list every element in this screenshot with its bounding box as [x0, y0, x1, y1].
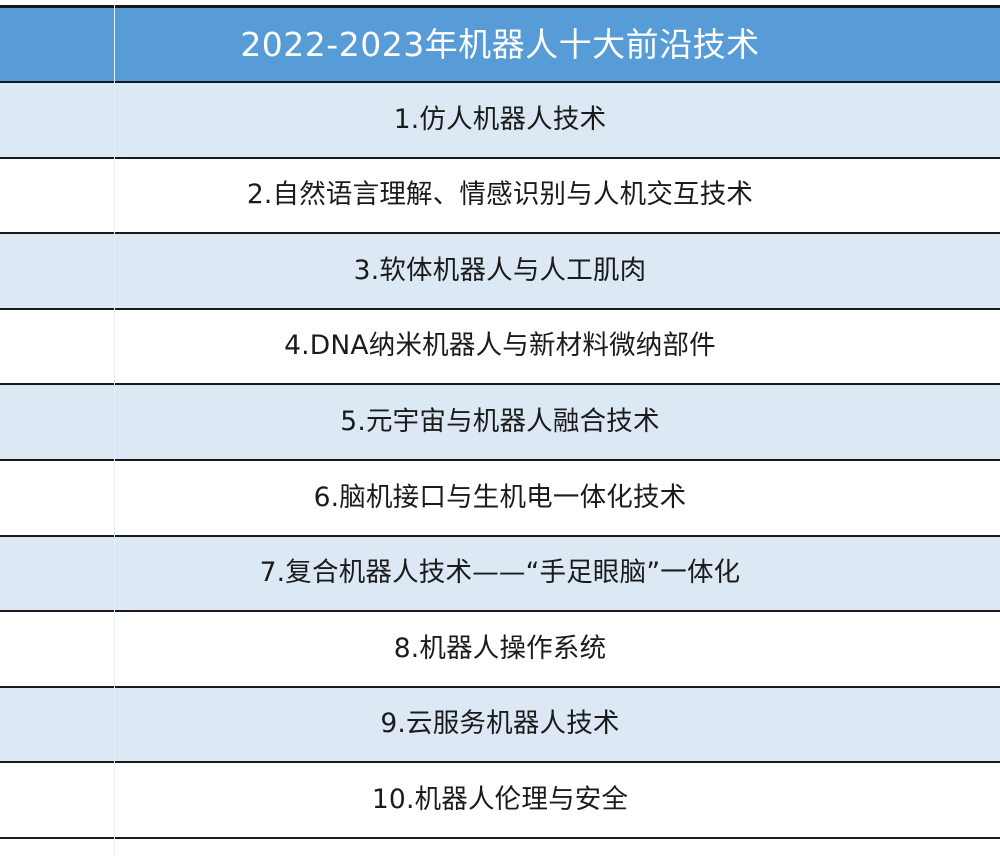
table-row[interactable]: 7.复合机器人技术——“手足眼脑”一体化 [0, 536, 1000, 612]
technology-item-2: 2.自然语言理解、情感识别与人机交互技术 [0, 158, 1000, 234]
technology-item-6: 6.脑机接口与生机电一体化技术 [0, 460, 1000, 536]
technology-item-10: 10.机器人伦理与安全 [0, 762, 1000, 838]
table-title-cell: 2022-2023年机器人十大前沿技术 [0, 7, 1000, 83]
technology-item-5: 5.元宇宙与机器人融合技术 [0, 384, 1000, 460]
table-row[interactable]: 4.DNA纳米机器人与新材料微纳部件 [0, 309, 1000, 385]
top-ten-robotics-technologies-table: 2022-2023年机器人十大前沿技术 1.仿人机器人技术 2.自然语言理解、情… [0, 5, 1000, 839]
table-row[interactable]: 9.云服务机器人技术 [0, 687, 1000, 763]
table-body: 1.仿人机器人技术 2.自然语言理解、情感识别与人机交互技术 3.软体机器人与人… [0, 82, 1000, 838]
table-header: 2022-2023年机器人十大前沿技术 [0, 7, 1000, 83]
table-row[interactable]: 6.脑机接口与生机电一体化技术 [0, 460, 1000, 536]
table-header-row: 2022-2023年机器人十大前沿技术 [0, 7, 1000, 83]
technology-item-1: 1.仿人机器人技术 [0, 82, 1000, 158]
table-row[interactable]: 2.自然语言理解、情感识别与人机交互技术 [0, 158, 1000, 234]
table-row[interactable]: 5.元宇宙与机器人融合技术 [0, 384, 1000, 460]
table-row[interactable]: 1.仿人机器人技术 [0, 82, 1000, 158]
table-row[interactable]: 3.软体机器人与人工肌肉 [0, 233, 1000, 309]
technology-item-4: 4.DNA纳米机器人与新材料微纳部件 [0, 309, 1000, 385]
technology-item-8: 8.机器人操作系统 [0, 611, 1000, 687]
table-row[interactable]: 10.机器人伦理与安全 [0, 762, 1000, 838]
technology-item-7: 7.复合机器人技术——“手足眼脑”一体化 [0, 536, 1000, 612]
table-row[interactable]: 8.机器人操作系统 [0, 611, 1000, 687]
technology-item-9: 9.云服务机器人技术 [0, 687, 1000, 763]
tech-table-container: 2022-2023年机器人十大前沿技术 1.仿人机器人技术 2.自然语言理解、情… [0, 0, 1000, 860]
technology-item-3: 3.软体机器人与人工肌肉 [0, 233, 1000, 309]
